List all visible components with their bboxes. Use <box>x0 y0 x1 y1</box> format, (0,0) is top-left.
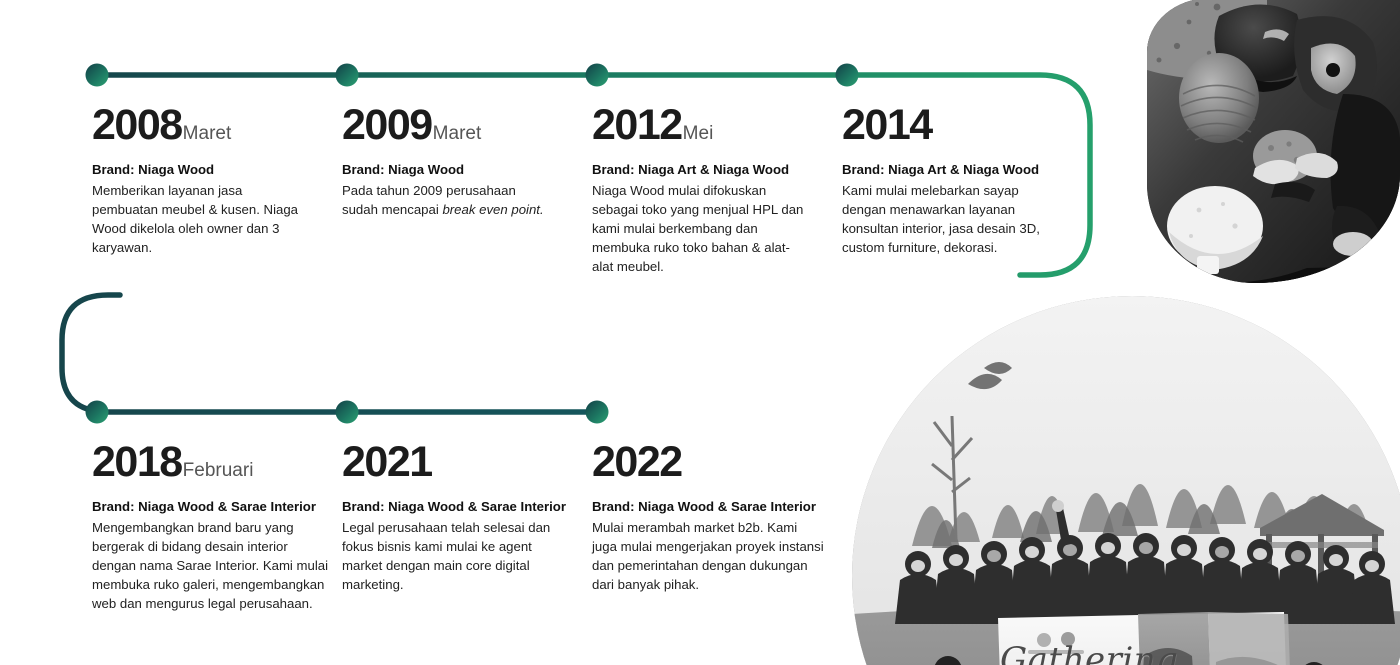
milestone-2008: 2008Maret Brand: Niaga Wood Memberikan l… <box>92 104 302 257</box>
milestone-year: 2009 <box>342 101 432 149</box>
milestone-description: Mulai merambah market b2b. Kami juga mul… <box>592 518 824 595</box>
milestone-description: Mengembangkan brand baru yang bergerak d… <box>92 518 332 614</box>
milestone-description: Legal perusahaan telah selesai dan fokus… <box>342 518 574 595</box>
milestone-year: 2012 <box>592 101 682 149</box>
timeline-dot-2014 <box>836 64 859 87</box>
milestone-2022: 2022 Brand: Niaga Wood & Sarae Interior … <box>592 441 824 594</box>
milestone-year-line: 2014 <box>842 104 1057 147</box>
milestone-brand: Brand: Niaga Wood <box>92 161 302 180</box>
milestone-description: Pada tahun 2009 perusahaan sudah mencapa… <box>342 181 547 219</box>
milestone-2021: 2021 Brand: Niaga Wood & Sarae Interior … <box>342 441 574 594</box>
milestone-year-line: 2009Maret <box>342 104 547 147</box>
timeline-dot-2021 <box>336 401 359 424</box>
milestone-2012: 2012Mei Brand: Niaga Art & Niaga Wood Ni… <box>592 104 810 276</box>
timeline-dot-2018 <box>86 401 109 424</box>
milestone-year-line: 2021 <box>342 441 574 484</box>
milestone-brand: Brand: Niaga Art & Niaga Wood <box>592 161 810 180</box>
milestone-brand: Brand: Niaga Art & Niaga Wood <box>842 161 1057 180</box>
timeline-dot-2012 <box>586 64 609 87</box>
milestone-month: Maret <box>183 123 232 144</box>
milestone-month: Maret <box>433 123 482 144</box>
banner-title: Gathering <box>1000 640 1178 665</box>
company-gathering-photo: Gathering PT. Niaga Sarae Interniaga <box>852 296 1400 665</box>
milestone-year: 2008 <box>92 101 182 149</box>
milestone-description: Kami mulai melebarkan sayap dengan menaw… <box>842 181 1057 258</box>
milestone-year: 2018 <box>92 438 182 486</box>
milestone-year: 2021 <box>342 438 432 486</box>
milestone-month: Mei <box>683 123 714 144</box>
team-outdoor-photo <box>1147 0 1400 283</box>
milestone-description: Niaga Wood mulai difokuskan sebagai toko… <box>592 181 810 277</box>
milestone-brand: Brand: Niaga Wood & Sarae Interior <box>342 498 574 517</box>
timeline-dot-2008 <box>86 64 109 87</box>
timeline-dot-2009 <box>336 64 359 87</box>
milestone-2018: 2018Februari Brand: Niaga Wood & Sarae I… <box>92 441 332 613</box>
milestone-year-line: 2022 <box>592 441 824 484</box>
milestone-brand: Brand: Niaga Wood & Sarae Interior <box>592 498 824 517</box>
timeline-dot-2022 <box>586 401 609 424</box>
milestone-month: Februari <box>183 460 254 481</box>
milestone-brand: Brand: Niaga Wood & Sarae Interior <box>92 498 332 517</box>
milestone-year-line: 2018Februari <box>92 441 332 484</box>
milestone-year-line: 2012Mei <box>592 104 810 147</box>
timeline-infographic: 2008Maret Brand: Niaga Wood Memberikan l… <box>0 0 1400 665</box>
milestone-brand: Brand: Niaga Wood <box>342 161 547 180</box>
rail-segment-bottom <box>62 295 597 412</box>
milestone-2009: 2009Maret Brand: Niaga Wood Pada tahun 2… <box>342 104 547 219</box>
milestone-description: Memberikan layanan jasa pembuatan meubel… <box>92 181 302 258</box>
milestone-year: 2014 <box>842 101 932 149</box>
milestone-2014: 2014 Brand: Niaga Art & Niaga Wood Kami … <box>842 104 1057 257</box>
milestone-year: 2022 <box>592 438 682 486</box>
milestone-year-line: 2008Maret <box>92 104 302 147</box>
